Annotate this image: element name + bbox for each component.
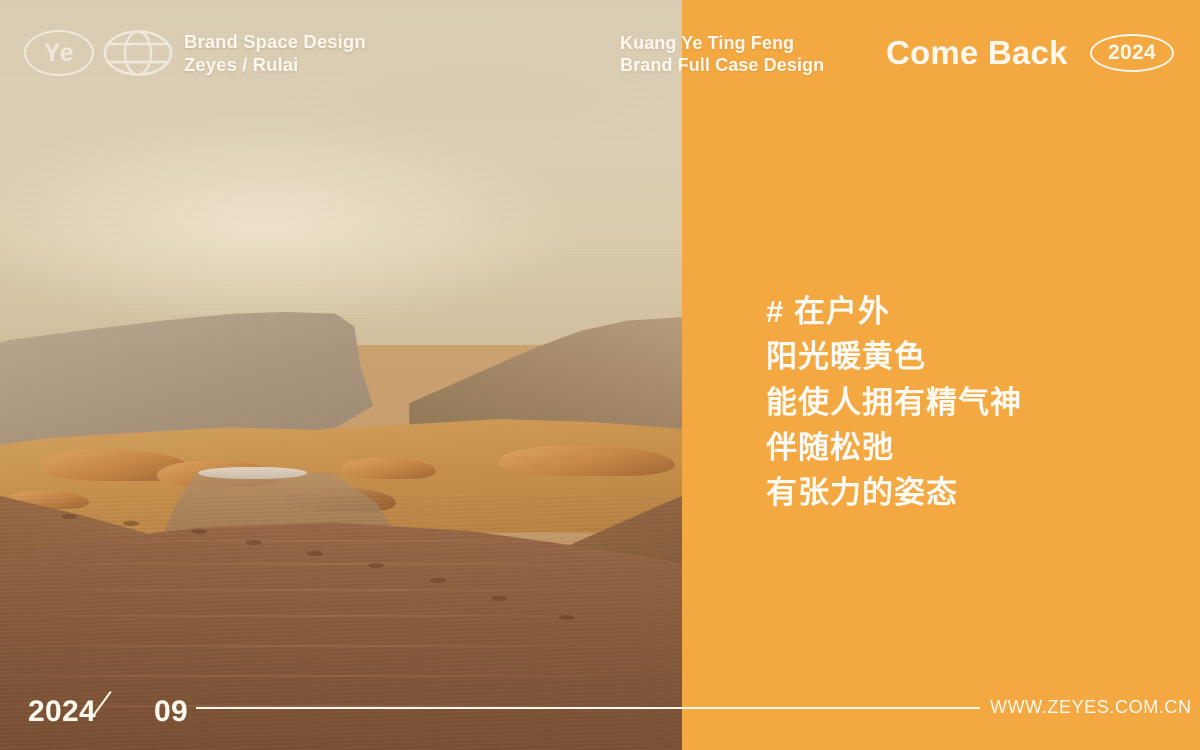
photo-salt-flat (198, 467, 307, 478)
brand-tagline-line2: Zeyes / Rulai (184, 54, 366, 77)
footer-date: 2024 09 (28, 687, 188, 729)
photo-scrub (368, 563, 384, 568)
copy-line: 能使人拥有精气神 (766, 380, 1022, 425)
copy-line: 阳光暖黄色 (766, 334, 1022, 379)
oval-ye-icon: Ye (24, 30, 94, 76)
footer-month: 09 (154, 695, 188, 729)
case-subtitle: Kuang Ye Ting Feng Brand Full Case Desig… (620, 33, 824, 77)
poster-canvas: Ye Brand Space Design Zeyes / Rulai Kuan… (0, 0, 1200, 750)
copy-line: 伴随松弛 (766, 425, 1022, 470)
photo-scrub (430, 578, 446, 583)
brand-tagline-line1: Brand Space Design (184, 31, 366, 54)
case-subtitle-line2: Brand Full Case Design (620, 55, 824, 77)
page-title: Come Back (886, 36, 1068, 69)
globe-icon (103, 30, 173, 76)
photo-terrain-streak (0, 540, 682, 542)
copy-line: 有张力的姿态 (766, 470, 1022, 515)
photo-scrub (246, 540, 262, 545)
footer-year: 2024 (28, 695, 96, 729)
photo-terrain-streak (0, 589, 682, 591)
photo-terrain-streak (0, 675, 682, 677)
case-subtitle-line1: Kuang Ye Ting Feng (620, 33, 824, 55)
photo-scrub (191, 529, 207, 534)
photo-rock-outcrop (498, 446, 675, 476)
year-badge: 2024 (1090, 34, 1174, 72)
photo-terrain-streak (0, 563, 682, 565)
copy-line: # 在户外 (766, 289, 1022, 334)
footer-rule (196, 707, 980, 709)
photo-terrain-streak (0, 645, 682, 647)
hero-photo (0, 0, 682, 750)
diagonal-slash-icon (104, 687, 150, 721)
logo-mark[interactable]: Ye (24, 30, 173, 76)
photo-scrub (61, 514, 77, 519)
photo-terrain-streak (0, 615, 682, 617)
copy-block: # 在户外 阳光暖黄色 能使人拥有精气神 伴随松弛 有张力的姿态 (766, 289, 1022, 515)
footer-url[interactable]: WWW.ZEYES.COM.CN (990, 697, 1192, 718)
brand-tagline: Brand Space Design Zeyes / Rulai (184, 31, 366, 76)
